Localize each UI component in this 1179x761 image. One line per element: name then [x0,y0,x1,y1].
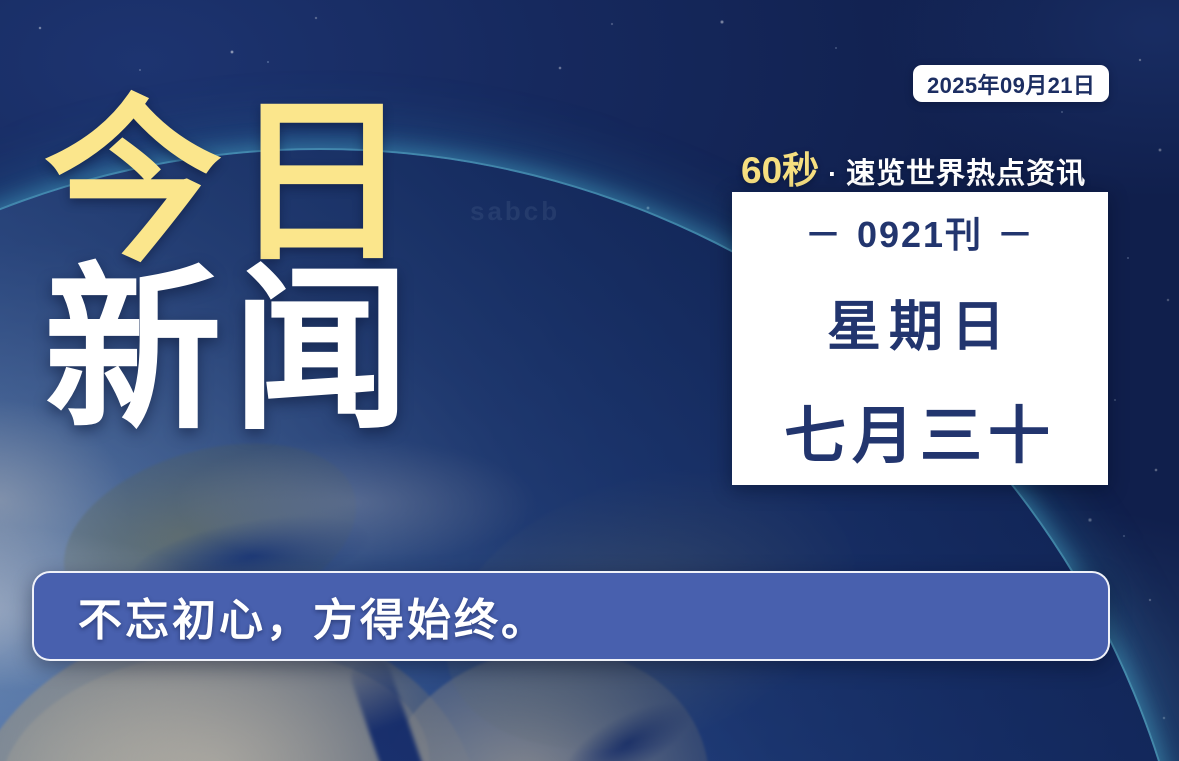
info-card: － 0921刊 － 星期日 七月三十 [732,192,1108,485]
headline: 今日 新闻 [44,96,420,439]
tagline-description: 速览世界热点资讯 [846,150,1086,192]
motto-banner: 不忘初心，方得始终。 [32,571,1110,661]
tagline-separator: · [828,159,837,190]
issue-dash-left: － [805,206,843,258]
motto-text: 不忘初心，方得始终。 [78,584,548,648]
poster-canvas: sabcb 今日 新闻 2025年09月21日 60秒 · 速览世界热点资讯 －… [0,0,1179,761]
tagline-duration: 60秒 [741,140,819,194]
lunar-date-label: 七月三十 [784,385,1056,475]
date-badge: 2025年09月21日 [913,65,1109,102]
weekday-label: 星期日 [827,282,1013,361]
tagline: 60秒 · 速览世界热点资讯 [741,140,1086,194]
issue-number: 0921刊 [857,206,983,258]
headline-line-news: 新闻 [44,264,420,438]
issue-dash-right: － [997,206,1035,258]
issue-row: － 0921刊 － [805,206,1035,258]
headline-line-today: 今日 [44,96,420,270]
